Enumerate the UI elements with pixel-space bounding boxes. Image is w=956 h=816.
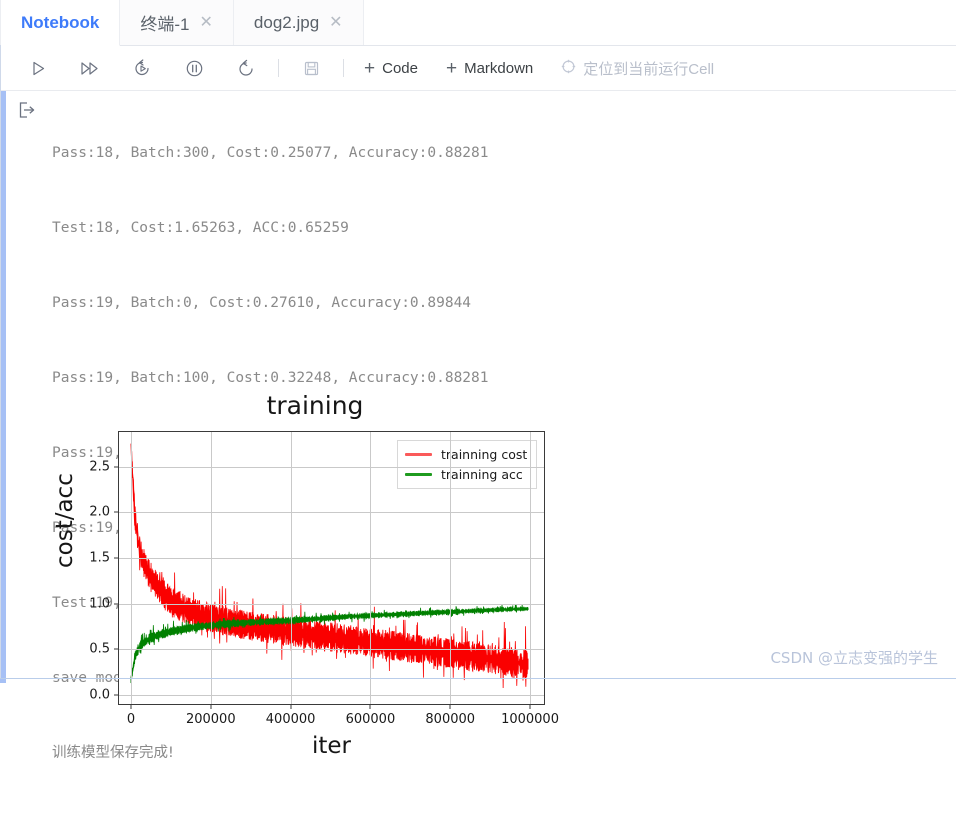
chart-gridline-vertical — [530, 432, 531, 704]
run-all-cells-button[interactable] — [64, 51, 116, 85]
chart-legend: trainning cost trainning acc — [397, 440, 537, 489]
close-icon[interactable]: ✕ — [329, 15, 342, 31]
toolbar-divider — [278, 59, 279, 77]
output-line: Test:18, Cost:1.65263, ACC:0.65259 — [52, 216, 489, 241]
chart-x-tick-label: 1000000 — [501, 712, 559, 727]
chart-x-tickmark — [210, 704, 211, 709]
training-chart: training cost/acc iter trainning cost tr… — [30, 291, 600, 581]
tab-label: dog2.jpg — [254, 13, 319, 33]
chart-y-tickmark — [114, 558, 119, 559]
watermark: CSDN @立志变强的学生 — [770, 647, 938, 668]
crosshair-icon — [561, 59, 576, 78]
add-markdown-cell-button[interactable]: + Markdown — [432, 59, 547, 78]
chart-gridline-horizontal — [119, 558, 544, 559]
chart-gridline-horizontal — [119, 512, 544, 513]
chart-gridline-horizontal — [119, 649, 544, 650]
output-line: Pass:18, Batch:300, Cost:0.25077, Accura… — [52, 141, 489, 166]
legend-swatch-acc — [405, 473, 432, 476]
add-code-cell-button[interactable]: + Code — [350, 59, 432, 78]
chart-x-tickmark — [530, 704, 531, 709]
chart-y-tick-label: 2.5 — [89, 459, 110, 474]
save-icon — [303, 60, 320, 77]
chart-x-tickmark — [450, 704, 451, 709]
run-cell-button[interactable] — [12, 51, 64, 85]
add-code-cell-label: Code — [382, 60, 418, 77]
chart-y-tickmark — [114, 649, 119, 650]
run-all-cells-icon — [80, 60, 101, 77]
chart-x-tick-label: 0 — [127, 712, 135, 727]
legend-swatch-cost — [405, 453, 432, 456]
chart-gridline-vertical — [291, 432, 292, 704]
chart-gridline-vertical — [131, 432, 132, 704]
page-left-edge — [0, 45, 1, 679]
legend-label-acc: trainning acc — [441, 467, 523, 482]
tab-notebook[interactable]: Notebook — [0, 0, 120, 46]
page-bottom-rule — [0, 678, 956, 679]
legend-item-trainning-cost: trainning cost — [405, 447, 527, 462]
chart-y-tickmark — [114, 512, 119, 513]
chart-title: training — [30, 391, 600, 420]
toolbar-divider — [343, 59, 344, 77]
legend-label-cost: trainning cost — [441, 447, 527, 462]
tab-dog2-jpg[interactable]: dog2.jpg ✕ — [234, 0, 364, 45]
chart-y-axis-label: cost/acc — [52, 473, 78, 568]
plus-icon: + — [364, 59, 375, 78]
run-cell-icon — [30, 60, 47, 77]
tab-bar: Notebook 终端-1 ✕ dog2.jpg ✕ — [0, 0, 956, 46]
restart-and-run-icon — [133, 59, 152, 78]
chart-x-tick-label: 200000 — [186, 712, 236, 727]
chart-y-tick-label: 1.5 — [89, 551, 110, 566]
tab-label: Notebook — [21, 13, 99, 33]
chart-x-tick-label: 600000 — [346, 712, 396, 727]
locate-running-cell-button[interactable]: 定位到当前运行Cell — [547, 58, 728, 79]
restart-and-run-button[interactable] — [116, 51, 168, 85]
chart-plot-area: trainning cost trainning acc 02000004000… — [118, 431, 545, 705]
chart-gridline-vertical — [450, 432, 451, 704]
chart-gridline-horizontal — [119, 695, 544, 696]
chart-x-tick-label: 400000 — [266, 712, 316, 727]
chart-x-axis-label: iter — [118, 733, 545, 759]
chart-y-tick-label: 2.0 — [89, 505, 110, 520]
chart-y-tick-label: 1.0 — [89, 596, 110, 611]
chart-y-tickmark — [114, 695, 119, 696]
pause-icon — [185, 59, 204, 78]
chart-x-tickmark — [130, 704, 131, 709]
chart-y-tickmark — [114, 603, 119, 604]
legend-item-trainning-acc: trainning acc — [405, 467, 527, 482]
notebook-toolbar: + Code + Markdown 定位到当前运行Cell — [0, 46, 956, 91]
chart-y-tick-label: 0.5 — [89, 642, 110, 657]
save-button[interactable] — [285, 51, 337, 85]
interrupt-kernel-button[interactable] — [168, 51, 220, 85]
chart-x-tick-label: 800000 — [425, 712, 475, 727]
tab-label: 终端-1 — [140, 10, 189, 35]
chart-y-tickmark — [114, 466, 119, 467]
close-icon[interactable]: ✕ — [200, 15, 213, 31]
restart-kernel-button[interactable] — [220, 51, 272, 85]
tab-terminal-1[interactable]: 终端-1 ✕ — [120, 0, 234, 45]
chart-gridline-vertical — [370, 432, 371, 704]
chart-gridline-vertical — [211, 432, 212, 704]
chart-gridline-horizontal — [119, 467, 544, 468]
chart-gridline-horizontal — [119, 604, 544, 605]
restart-icon — [237, 59, 256, 78]
add-markdown-cell-label: Markdown — [464, 60, 533, 77]
plus-icon: + — [446, 59, 457, 78]
chart-x-tickmark — [370, 704, 371, 709]
locate-running-cell-label: 定位到当前运行Cell — [583, 58, 714, 79]
chart-x-tickmark — [290, 704, 291, 709]
cell-output-prompt-icon — [18, 101, 37, 125]
notebook-cell-area: Pass:18, Batch:300, Cost:0.25077, Accura… — [0, 91, 956, 691]
